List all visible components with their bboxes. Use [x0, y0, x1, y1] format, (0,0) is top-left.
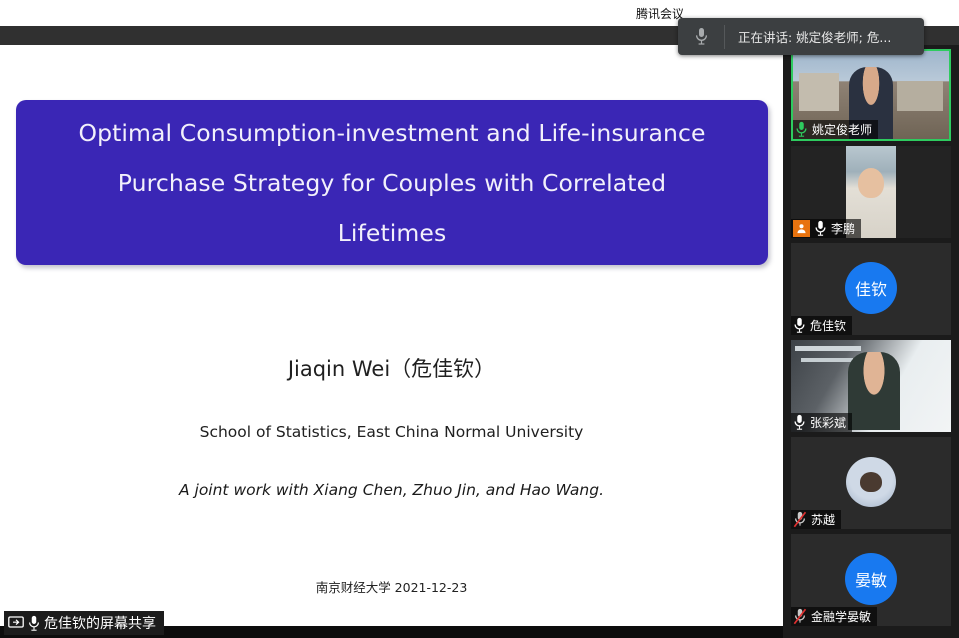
participant-name: 张彩斌 — [810, 414, 846, 431]
slide-title-line-2: Purchase Strategy for Couples with Corre… — [118, 158, 666, 208]
microphone-muted-icon — [793, 608, 807, 625]
participant-tile[interactable]: 李鹏 — [791, 146, 951, 238]
participant-namebar: 张彩斌 — [791, 413, 852, 432]
slide-author: Jiaqin Wei（危佳钦） — [0, 353, 783, 383]
participant-namebar: 苏越 — [791, 510, 841, 529]
app-title: 腾讯会议 — [636, 5, 684, 22]
microphone-icon — [793, 317, 806, 334]
participant-name: 危佳钦 — [810, 317, 846, 334]
screen-share-badge: 危佳钦的屏幕共享 — [4, 611, 164, 635]
microphone-active-icon — [795, 121, 808, 138]
participant-tile[interactable]: 晏敏 金融学晏敏 — [791, 534, 951, 626]
host-badge-icon — [793, 220, 810, 237]
participant-tile[interactable]: 姚定俊老师 — [791, 49, 951, 141]
microphone-icon — [814, 220, 827, 237]
participant-namebar: 李鹏 — [791, 219, 861, 238]
speaking-text: 正在讲话: 姚定俊老师; 危... — [725, 27, 924, 46]
slide-joint-work: A joint work with Xiang Chen, Zhuo Jin, … — [0, 481, 783, 499]
avatar: 佳钦 — [845, 262, 897, 314]
avatar: 晏敏 — [845, 553, 897, 605]
toast-mic-icon-wrap — [678, 27, 724, 46]
microphone-icon — [28, 615, 40, 632]
avatar — [846, 457, 896, 507]
participant-name: 李鹏 — [831, 220, 855, 237]
participant-name: 苏越 — [811, 511, 835, 528]
participant-namebar: 姚定俊老师 — [793, 120, 878, 139]
slide-affiliation: School of Statistics, East China Normal … — [0, 423, 783, 441]
participant-name: 姚定俊老师 — [812, 121, 872, 138]
participant-tile[interactable]: 苏越 — [791, 437, 951, 529]
shared-screen-slide[interactable]: Optimal Consumption-investment and Life-… — [0, 45, 783, 615]
screen-share-icon — [8, 616, 24, 630]
slide-venue-date: 南京财经大学 2021-12-23 — [0, 577, 783, 596]
participant-name: 金融学晏敏 — [811, 608, 871, 625]
host-person-icon — [796, 223, 807, 234]
participant-tile[interactable]: 张彩斌 — [791, 340, 951, 432]
participant-namebar: 金融学晏敏 — [791, 607, 877, 626]
microphone-icon — [695, 27, 708, 46]
screen-share-label: 危佳钦的屏幕共享 — [44, 613, 156, 633]
speaking-indicator-toast[interactable]: 正在讲话: 姚定俊老师; 危... — [678, 18, 924, 55]
microphone-icon — [793, 414, 806, 431]
participant-panel[interactable]: 姚定俊老师 李鹏 — [783, 45, 959, 638]
microphone-muted-icon — [793, 511, 807, 528]
slide-title-line-1: Optimal Consumption-investment and Life-… — [78, 108, 705, 158]
participant-tile[interactable]: 佳钦 危佳钦 — [791, 243, 951, 335]
meeting-window: 腾讯会议 正在讲话: 姚定俊老师; 危... Optimal Consumpti… — [0, 0, 959, 638]
slide-title-box: Optimal Consumption-investment and Life-… — [16, 100, 768, 265]
participant-namebar: 危佳钦 — [791, 316, 852, 335]
slide-title-line-3: Lifetimes — [338, 208, 447, 258]
